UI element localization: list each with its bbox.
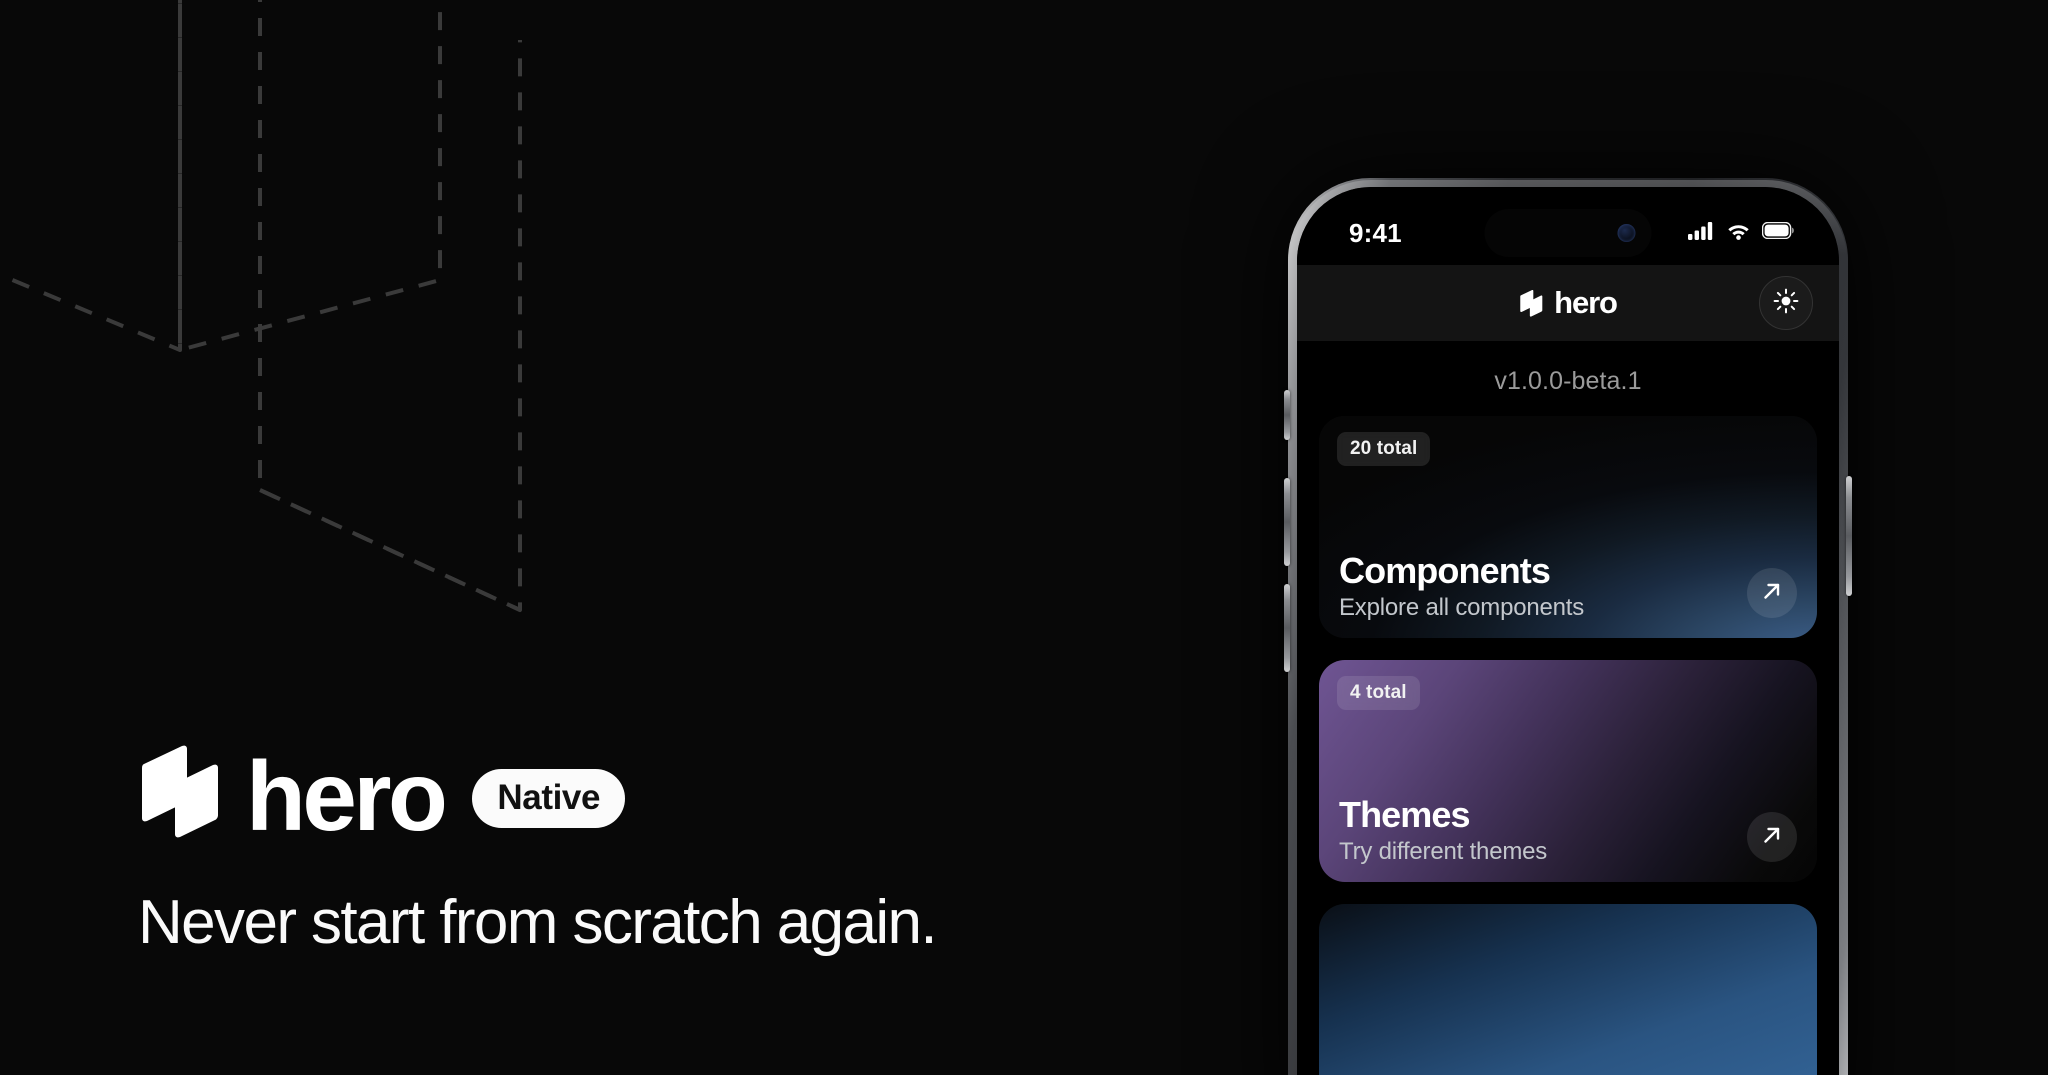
phone-bezel: 9:41 bbox=[1297, 187, 1839, 1075]
card-gradient bbox=[1319, 904, 1817, 1075]
native-badge: Native bbox=[472, 769, 625, 828]
card-text: Components Explore all components bbox=[1339, 551, 1747, 622]
hero-logo-dashed-outline-icon bbox=[0, 0, 600, 670]
version-label: v1.0.0-beta.1 bbox=[1319, 341, 1817, 416]
card-text: Themes Try different themes bbox=[1339, 795, 1747, 866]
app-content: v1.0.0-beta.1 20 total Components Explor… bbox=[1297, 341, 1839, 1075]
front-camera-icon bbox=[1618, 224, 1636, 242]
volume-down-button[interactable] bbox=[1284, 584, 1290, 672]
card-components[interactable]: 20 total Components Explore all componen… bbox=[1319, 416, 1817, 638]
sun-icon bbox=[1773, 288, 1799, 319]
hero-logo-mark-icon bbox=[1519, 289, 1543, 318]
dynamic-island bbox=[1485, 209, 1652, 257]
card-footer: Components Explore all components bbox=[1339, 551, 1797, 622]
card-open-button[interactable] bbox=[1747, 812, 1797, 862]
card-open-button[interactable] bbox=[1747, 568, 1797, 618]
status-indicators bbox=[1688, 221, 1795, 245]
status-time: 9:41 bbox=[1349, 218, 1402, 249]
card-subtitle: Try different themes bbox=[1339, 838, 1747, 866]
card-title: Themes bbox=[1339, 795, 1747, 835]
app-brand: hero bbox=[1519, 285, 1617, 321]
hero-landing-screen: hero Native Never start from scratch aga… bbox=[0, 0, 2048, 1075]
app-title: hero bbox=[1554, 285, 1617, 321]
brand-wordmark: hero bbox=[246, 747, 444, 845]
power-button[interactable] bbox=[1846, 476, 1852, 596]
battery-full-icon bbox=[1762, 222, 1795, 244]
wifi-icon bbox=[1726, 221, 1751, 245]
arrow-up-right-icon bbox=[1760, 579, 1784, 608]
cellular-bars-icon bbox=[1688, 221, 1715, 245]
card-subtitle: Explore all components bbox=[1339, 594, 1747, 622]
card-count-badge: 20 total bbox=[1337, 432, 1430, 466]
card-themes[interactable]: 4 total Themes Try different themes bbox=[1319, 660, 1817, 882]
arrow-up-right-icon bbox=[1760, 823, 1784, 852]
hero-logo-mark-icon bbox=[138, 742, 220, 842]
phone-mockup: 9:41 bbox=[1288, 178, 1848, 1075]
theme-toggle-button[interactable] bbox=[1759, 276, 1813, 330]
tagline: Never start from scratch again. bbox=[138, 890, 936, 955]
action-button[interactable] bbox=[1284, 390, 1290, 440]
card-footer: Themes Try different themes bbox=[1339, 795, 1797, 866]
brand-lockup: hero Native bbox=[138, 742, 936, 842]
app-header: hero bbox=[1297, 265, 1839, 341]
card-title: Components bbox=[1339, 551, 1747, 591]
card-count-badge: 4 total bbox=[1337, 676, 1420, 710]
phone-screen: 9:41 bbox=[1297, 187, 1839, 1075]
volume-up-button[interactable] bbox=[1284, 478, 1290, 566]
hero-content: hero Native Never start from scratch aga… bbox=[138, 742, 936, 955]
card-next[interactable] bbox=[1319, 904, 1817, 1075]
